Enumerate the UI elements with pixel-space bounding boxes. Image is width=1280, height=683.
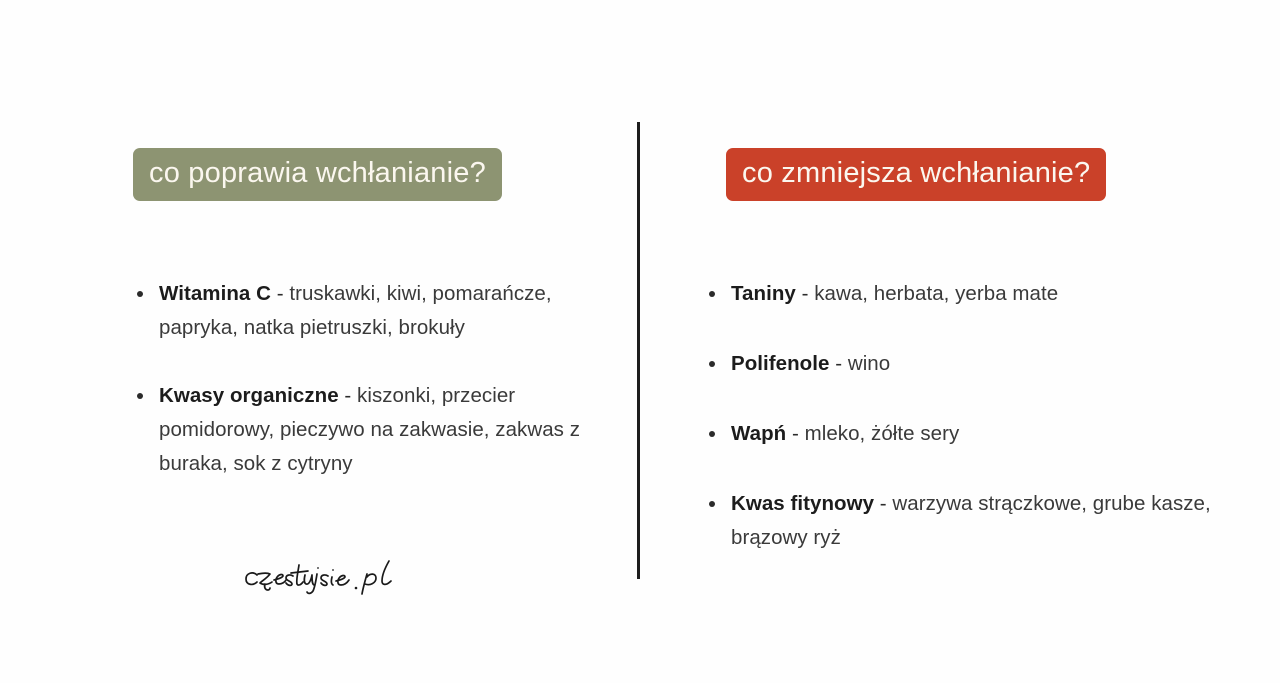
right-column: co zmniejsza wchłanianie? Taniny - kawa,… xyxy=(640,0,1280,683)
right-header-label: co zmniejsza wchłanianie? xyxy=(742,157,1090,189)
bullet-icon xyxy=(709,501,715,507)
list-item-term: Taniny xyxy=(731,282,796,305)
slide-canvas: co poprawia wchłanianie? Witamina C - tr… xyxy=(0,0,1280,683)
list-item: Polifenole - wino xyxy=(705,347,1215,381)
brand-signature xyxy=(243,555,413,599)
list-item-dash: - xyxy=(829,352,847,375)
list-item-dash: - xyxy=(339,384,357,407)
list-item-term: Wapń xyxy=(731,422,786,445)
list-item: Kwasy organiczne - kiszonki, przecier po… xyxy=(133,379,613,481)
list-item-description: kawa, herbata, yerba mate xyxy=(814,282,1058,305)
bullet-icon xyxy=(709,361,715,367)
right-header-pill: co zmniejsza wchłanianie? xyxy=(726,148,1106,201)
list-item: Wapń - mleko, żółte sery xyxy=(705,417,1215,451)
bullet-icon xyxy=(709,431,715,437)
list-item-dash: - xyxy=(796,282,814,305)
list-item-dash: - xyxy=(786,422,804,445)
list-item: Kwas fitynowy - warzywa strączkowe, grub… xyxy=(705,487,1215,555)
list-item-dash: - xyxy=(874,492,892,515)
list-item-dash: - xyxy=(271,282,289,305)
list-item-term: Kwas fitynowy xyxy=(731,492,874,515)
left-column: co poprawia wchłanianie? Witamina C - tr… xyxy=(0,0,637,683)
list-item: Taniny - kawa, herbata, yerba mate xyxy=(705,277,1215,311)
left-header-pill: co poprawia wchłanianie? xyxy=(133,148,502,201)
list-item-term: Kwasy organiczne xyxy=(159,384,339,407)
bullet-icon xyxy=(709,291,715,297)
left-benefit-list: Witamina C - truskawki, kiwi, pomarańcze… xyxy=(133,277,613,515)
list-item-term: Witamina C xyxy=(159,282,271,305)
list-item-description: wino xyxy=(848,352,890,375)
right-inhibitor-list: Taniny - kawa, herbata, yerba mate Polif… xyxy=(705,277,1215,591)
left-header-label: co poprawia wchłanianie? xyxy=(149,157,486,189)
list-item: Witamina C - truskawki, kiwi, pomarańcze… xyxy=(133,277,613,345)
signature-script-icon xyxy=(243,555,413,599)
list-item-description: mleko, żółte sery xyxy=(805,422,960,445)
list-item-term: Polifenole xyxy=(731,352,829,375)
bullet-icon xyxy=(137,393,143,399)
bullet-icon xyxy=(137,291,143,297)
